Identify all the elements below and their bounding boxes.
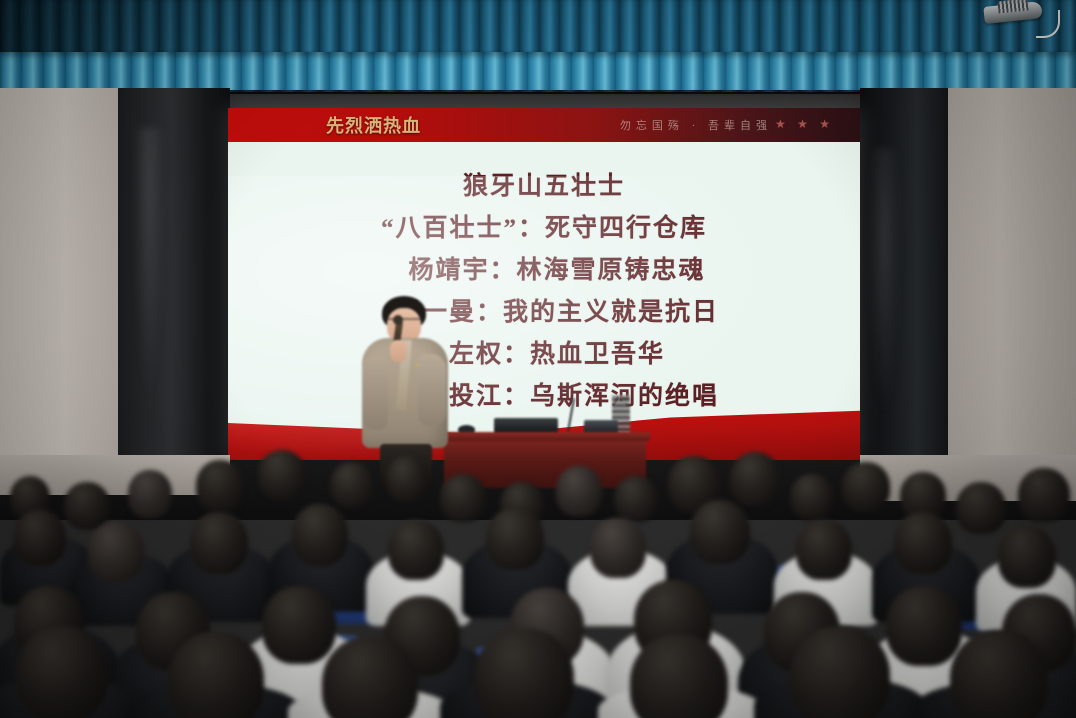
microphone-head (393, 315, 403, 325)
audience-head (956, 482, 1006, 534)
audience-head (590, 518, 646, 578)
audience-head (998, 526, 1056, 588)
projection-screen: 先烈洒热血 勿忘国殇 · 吾辈自强 ★ ★ ★ 狼牙山五壮士 “八百壮士”：死守… (228, 108, 860, 460)
audience-head (556, 466, 602, 516)
slide-line: 赵一曼：我的主义就是抗日 (228, 292, 860, 334)
audience-head (262, 586, 336, 664)
auditorium-photo: 先烈洒热血 勿忘国殇 · 吾辈自强 ★ ★ ★ 狼牙山五壮士 “八百壮士”：死守… (0, 0, 1076, 718)
audience-head (190, 512, 248, 574)
audience-head (322, 636, 418, 718)
audience-head (1018, 468, 1070, 522)
slide-text-block: 狼牙山五壮士 “八百壮士”：死守四行仓库 杨靖宇：林海雪原铸忠魂 赵一曼：我的主… (228, 166, 860, 418)
audience-head (790, 626, 890, 718)
audience-head (886, 586, 962, 666)
audience-head (842, 462, 890, 512)
audience-head (440, 474, 486, 522)
audience-head (168, 632, 264, 718)
wall-right (948, 88, 1076, 488)
audience-head (292, 504, 348, 566)
slide-line: 左权：热血卫吾华 (228, 334, 860, 376)
audience-head (486, 508, 544, 570)
curtain-valance (0, 52, 1076, 90)
slide-header-bar: 先烈洒热血 勿忘国殇 · 吾辈自强 ★ ★ ★ (228, 108, 860, 142)
slide-body: 狼牙山五壮士 “八百壮士”：死守四行仓库 杨靖宇：林海雪原铸忠魂 赵一曼：我的主… (228, 142, 860, 460)
audience-head (690, 500, 750, 564)
slide-line: 杨靖宇：林海雪原铸忠魂 (228, 250, 860, 292)
audience-head (474, 628, 574, 718)
slide-title: 先烈洒热血 (326, 112, 421, 138)
star-icons: ★ ★ ★ (775, 117, 834, 131)
audience-head (730, 452, 780, 506)
slide-line: 狼牙山五壮士 (228, 166, 860, 208)
audience-head (88, 522, 144, 582)
audience-head (388, 520, 444, 580)
slide-line: “八百壮士”：死守四行仓库 (228, 208, 860, 250)
laptop (494, 418, 558, 433)
ceiling-light-fixture (984, 0, 1050, 30)
audience-head (614, 476, 658, 522)
audience-head (950, 630, 1048, 718)
audience-head (128, 470, 172, 518)
wall-left (0, 88, 118, 488)
audience-head (790, 474, 834, 520)
dark-wall-panel-right (860, 88, 952, 488)
seated-student-audience (0, 440, 1076, 718)
audience-head (16, 626, 108, 718)
audience-head (14, 510, 66, 566)
dark-wall-panel-left (118, 88, 230, 488)
audience-head (630, 634, 728, 718)
audience-head (330, 462, 374, 508)
audience-head (894, 512, 952, 574)
audience-head (796, 520, 852, 580)
slide-tagline: 勿忘国殇 · 吾辈自强 (620, 117, 772, 133)
audience-head (386, 456, 428, 502)
audience-head (258, 450, 306, 500)
audience-head (196, 460, 244, 512)
speaker-hand (390, 340, 407, 362)
speaker-right-arm (418, 354, 446, 426)
audience-head (64, 482, 110, 530)
slide-line: 八女投江：乌斯浑河的绝唱 (228, 376, 860, 418)
speaker-left-arm (362, 356, 388, 430)
